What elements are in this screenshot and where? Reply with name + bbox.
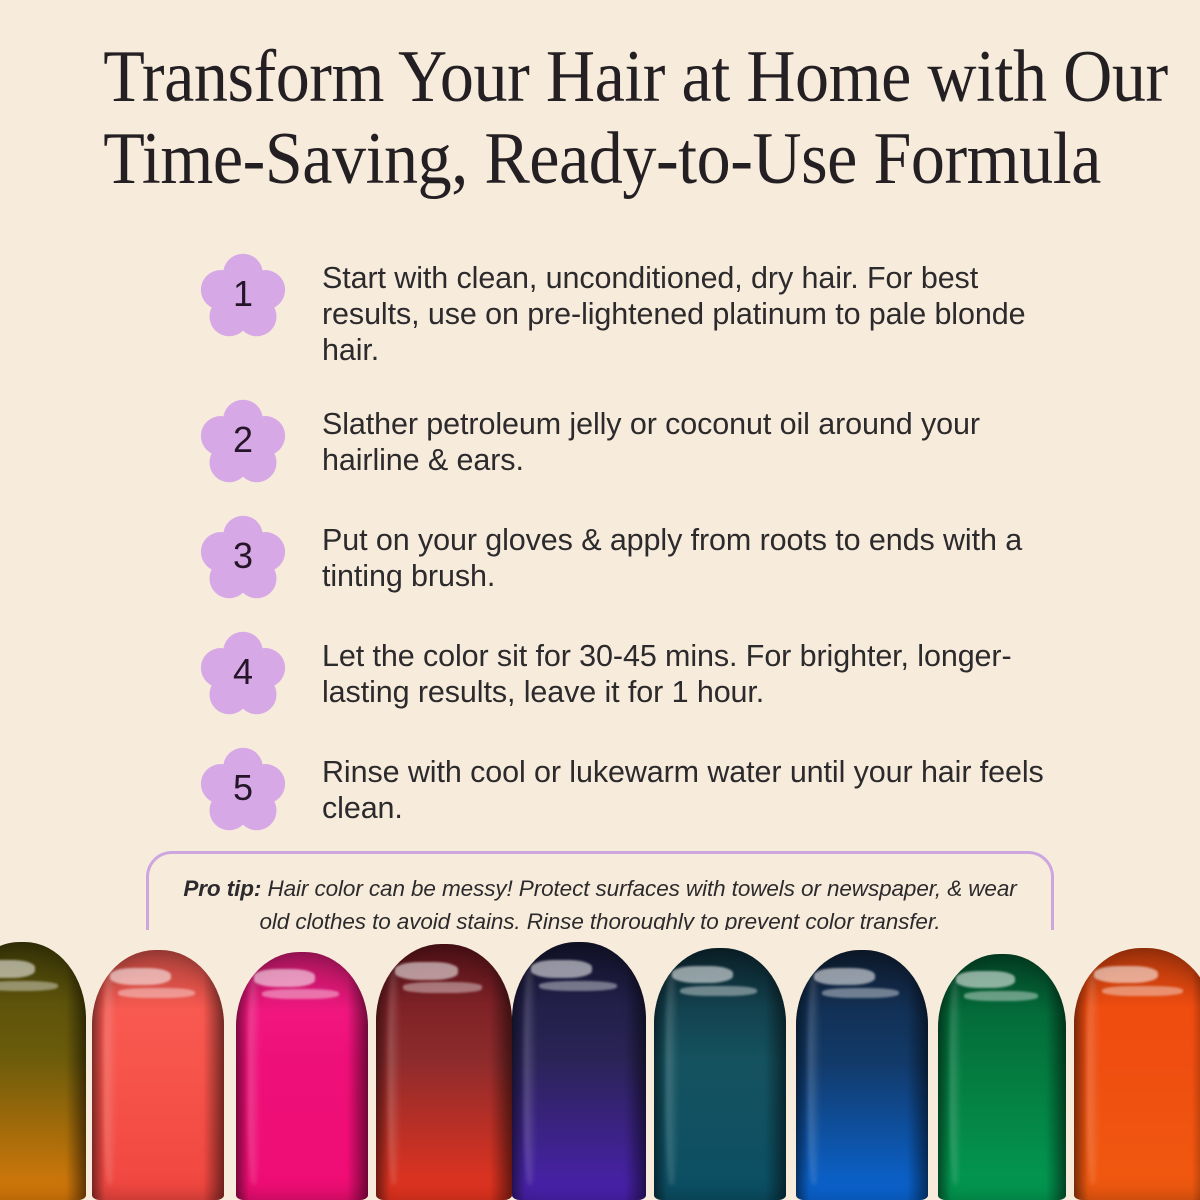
swatch-highlight-second (118, 988, 195, 998)
step-item: 4 Let the color sit for 30-45 mins. For … (200, 630, 1060, 716)
swatch-side-highlight (666, 973, 678, 1185)
step-number-badge: 5 (200, 746, 286, 832)
swatch-highlight-top (395, 962, 458, 980)
swatch-side-highlight (524, 968, 536, 1185)
swatch-highlight-second (822, 988, 899, 998)
step-number-badge: 3 (200, 514, 286, 600)
step-text: Let the color sit for 30-45 mins. For br… (322, 630, 1060, 710)
infographic-page: Transform Your Hair at Home with Our Tim… (0, 0, 1200, 1200)
swatch-highlight-top (254, 969, 315, 986)
swatch-highlight-top (672, 966, 733, 984)
color-swatch-navy-blue (796, 950, 928, 1200)
step-number: 1 (200, 252, 286, 338)
swatch-side-highlight (950, 979, 962, 1186)
swatch-right-edge (490, 944, 512, 1200)
title-line-2: Time-Saving, Ready-to-Use Formula (103, 118, 1097, 200)
swatch-right-edge (907, 950, 928, 1200)
page-title: Transform Your Hair at Home with Our Tim… (60, 36, 1140, 200)
color-swatch-orange (1074, 948, 1200, 1200)
pro-tip-body: Hair color can be messy! Protect surface… (259, 876, 1016, 934)
swatch-highlight-second (403, 982, 482, 992)
swatch-side-highlight (248, 977, 260, 1185)
swatch-right-edge (625, 942, 646, 1200)
step-text: Put on your gloves & apply from roots to… (322, 514, 1060, 594)
pro-tip-text: Pro tip: Hair color can be messy! Protec… (175, 872, 1025, 938)
swatch-highlight-second (262, 989, 339, 999)
swatch-left-edge (1074, 948, 1088, 1200)
color-swatch-olive-green (0, 942, 86, 1200)
step-number-badge: 1 (200, 252, 286, 338)
swatch-highlight-second (0, 981, 58, 991)
swatch-side-highlight (808, 975, 820, 1185)
swatch-highlight-second (680, 986, 757, 996)
swatch-highlight-top (956, 971, 1015, 988)
swatch-right-edge (765, 948, 786, 1200)
swatch-right-edge (203, 950, 224, 1200)
swatch-highlight-top (1094, 966, 1158, 984)
color-swatch-teal-blue (654, 948, 786, 1200)
swatch-side-highlight (104, 975, 116, 1185)
color-swatch-coral-red (92, 950, 224, 1200)
swatch-left-edge (938, 954, 951, 1200)
swatch-highlight-second (539, 981, 617, 991)
swatch-right-edge (66, 942, 86, 1200)
color-swatch-hot-pink (236, 952, 368, 1200)
step-number: 2 (200, 398, 286, 484)
color-swatch-burgundy-red (376, 944, 512, 1200)
step-item: 1 Start with clean, unconditioned, dry h… (200, 252, 1060, 368)
swatch-side-highlight (388, 970, 400, 1185)
step-text: Slather petroleum jelly or coconut oil a… (322, 398, 1060, 478)
color-swatch-emerald-green (938, 954, 1066, 1200)
color-swatch-deep-purple (512, 942, 646, 1200)
swatch-right-edge (347, 952, 368, 1200)
step-text: Start with clean, unconditioned, dry hai… (322, 252, 1060, 368)
step-text: Rinse with cool or lukewarm water until … (322, 746, 1060, 826)
swatch-highlight-second (1102, 986, 1183, 996)
swatch-highlight-top (814, 968, 875, 986)
step-number: 5 (200, 746, 286, 832)
step-item: 2 Slather petroleum jelly or coconut oil… (200, 398, 1060, 484)
title-line-1: Transform Your Hair at Home with Our (103, 36, 1097, 118)
step-number-badge: 4 (200, 630, 286, 716)
step-item: 5 Rinse with cool or lukewarm water unti… (200, 746, 1060, 832)
steps-list: 1 Start with clean, unconditioned, dry h… (200, 252, 1060, 860)
pro-tip-label: Pro tip: (183, 876, 261, 901)
step-number: 4 (200, 630, 286, 716)
swatch-highlight-top (110, 968, 171, 986)
step-item: 3 Put on your gloves & apply from roots … (200, 514, 1060, 600)
swatch-highlight-top (0, 960, 35, 978)
swatch-side-highlight (1087, 973, 1100, 1185)
step-number-badge: 2 (200, 398, 286, 484)
swatch-right-edge (1046, 954, 1066, 1200)
swatch-right-edge (1192, 948, 1200, 1200)
swatch-highlight-top (531, 960, 593, 978)
product-color-strip (0, 930, 1200, 1200)
swatch-highlight-second (964, 991, 1038, 1001)
step-number: 3 (200, 514, 286, 600)
